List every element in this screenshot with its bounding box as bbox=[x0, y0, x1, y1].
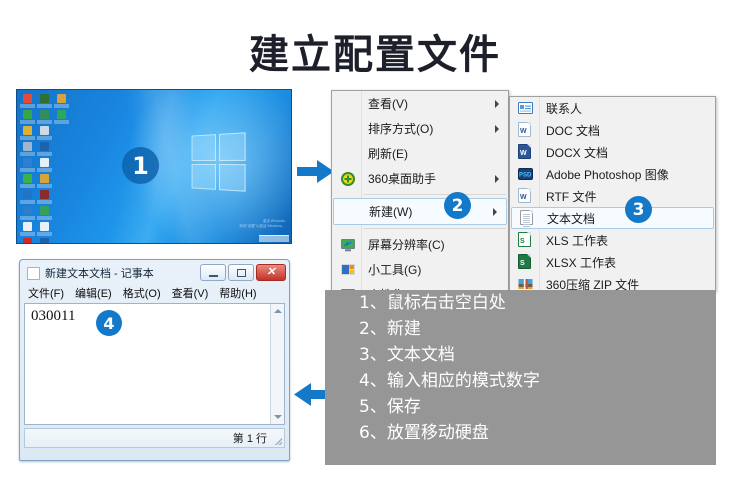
submenu-item-label: DOC 文档 bbox=[546, 122, 600, 139]
minimize-button[interactable] bbox=[200, 264, 226, 281]
word-docx-icon: W bbox=[518, 144, 533, 160]
menu-help[interactable]: 帮助(H) bbox=[219, 285, 256, 301]
desktop-icon bbox=[20, 221, 35, 236]
submenu-item-label: 联系人 bbox=[546, 100, 582, 117]
psd-icon: PSD bbox=[518, 166, 533, 182]
context-menu-item-view[interactable]: 查看(V) bbox=[332, 91, 508, 116]
context-menu-item-label: 小工具(G) bbox=[368, 261, 421, 278]
notepad-title-bar[interactable]: 新建文本文档 - 记事本 ✕ bbox=[23, 263, 286, 283]
resize-grip-icon[interactable] bbox=[273, 436, 282, 445]
desktop-icon bbox=[20, 141, 35, 156]
desktop-taskbar bbox=[259, 235, 289, 242]
notepad-app-icon bbox=[27, 267, 40, 280]
desktop-watermark: 激活 Windows 转到"设置"以激活 Windows。 bbox=[239, 219, 285, 229]
scroll-down-icon[interactable] bbox=[271, 410, 284, 424]
chevron-right-icon bbox=[493, 208, 497, 216]
context-menu-item-360-desktop-assistant[interactable]: 360桌面助手 bbox=[332, 166, 508, 191]
menu-view[interactable]: 查看(V) bbox=[172, 285, 209, 301]
desktop-icon bbox=[20, 173, 35, 188]
maximize-button[interactable] bbox=[228, 264, 254, 281]
menu-edit[interactable]: 编辑(E) bbox=[75, 285, 112, 301]
desktop-icon bbox=[37, 237, 52, 244]
context-menu-item-label: 刷新(E) bbox=[368, 145, 408, 162]
notepad-menu-bar[interactable]: 文件(F) 编辑(E) 格式(O) 查看(V) 帮助(H) bbox=[23, 283, 286, 302]
submenu-item-label: DOCX 文档 bbox=[546, 144, 608, 161]
instruction-step: 2、新建 bbox=[325, 316, 716, 342]
context-menu-item-screen-resolution[interactable]: 屏幕分辨率(C) bbox=[332, 232, 508, 257]
submenu-item-label: XLSX 工作表 bbox=[546, 254, 616, 271]
new-item-submenu[interactable]: 联系人 W DOC 文档 W DOCX 文档 PSD Adobe bbox=[509, 96, 716, 292]
desktop-icon bbox=[37, 125, 52, 140]
desktop-icon bbox=[20, 189, 35, 204]
context-menu-item-new[interactable]: 新建(W) bbox=[333, 198, 507, 225]
desktop-icon bbox=[54, 109, 69, 124]
submenu-item-label: XLS 工作表 bbox=[546, 232, 608, 249]
notepad-title-text: 新建文本文档 - 记事本 bbox=[45, 265, 154, 281]
desktop-icon bbox=[37, 157, 52, 172]
instruction-steps-panel: 1、鼠标右击空白处 2、新建 3、文本文档 4、输入相应的模式数字 5、保存 6… bbox=[325, 290, 716, 465]
context-menu-separator bbox=[364, 194, 506, 195]
instruction-step: 6、放置移动硬盘 bbox=[325, 420, 716, 446]
submenu-item-label: Adobe Photoshop 图像 bbox=[546, 166, 669, 183]
chevron-right-icon bbox=[495, 100, 499, 108]
desktop-icon bbox=[54, 157, 69, 172]
notepad-window[interactable]: 新建文本文档 - 记事本 ✕ 文件(F) 编辑(E) 格式(O) 查看(V) 帮… bbox=[19, 259, 290, 461]
chevron-right-icon bbox=[495, 175, 499, 183]
window-controls: ✕ bbox=[200, 264, 286, 281]
desktop-context-menu[interactable]: 查看(V) 排序方式(O) 刷新(E) 360桌面助手 新建(W) bbox=[331, 90, 509, 292]
step-badge-4: 4 bbox=[96, 310, 122, 336]
desktop-icon bbox=[20, 125, 35, 140]
gadgets-icon bbox=[340, 262, 356, 278]
desktop-icon bbox=[54, 173, 69, 188]
desktop-icon bbox=[54, 141, 69, 156]
desktop-icon bbox=[54, 125, 69, 140]
step-badge-1: 1 bbox=[122, 147, 159, 184]
submenu-item-xls[interactable]: S XLS 工作表 bbox=[510, 229, 715, 251]
instruction-step: 5、保存 bbox=[325, 394, 716, 420]
context-menu-separator bbox=[364, 228, 506, 229]
desktop-icon bbox=[54, 205, 69, 220]
notepad-text-area[interactable]: 030011 bbox=[24, 303, 285, 425]
desktop-icon bbox=[20, 205, 35, 220]
word-rtf-icon: W bbox=[518, 188, 533, 204]
windows-logo-icon bbox=[192, 132, 246, 192]
context-menu-item-label: 查看(V) bbox=[368, 95, 408, 112]
instruction-step: 1、鼠标右击空白处 bbox=[325, 290, 716, 316]
desktop-icon bbox=[54, 221, 69, 236]
close-button[interactable]: ✕ bbox=[256, 264, 286, 281]
arrow-right-icon bbox=[297, 159, 335, 184]
page-title: 建立配置文件 bbox=[0, 22, 750, 80]
context-menu-item-gadgets[interactable]: 小工具(G) bbox=[332, 257, 508, 282]
svg-text:PSD: PSD bbox=[519, 173, 532, 179]
excel-xls-icon: S bbox=[518, 232, 533, 248]
desktop-icon bbox=[54, 93, 69, 108]
context-menu-item-refresh[interactable]: 刷新(E) bbox=[332, 141, 508, 166]
monitor-icon bbox=[340, 237, 356, 253]
desktop-icon bbox=[54, 189, 69, 204]
step-badge-2: 2 bbox=[444, 192, 471, 219]
notepad-scrollbar[interactable] bbox=[270, 304, 284, 424]
contact-card-icon bbox=[518, 100, 533, 116]
desktop-icon bbox=[37, 141, 52, 156]
close-icon: ✕ bbox=[266, 267, 275, 278]
submenu-item-label: 文本文档 bbox=[547, 210, 595, 227]
submenu-item-text-document[interactable]: 文本文档 bbox=[511, 207, 714, 229]
menu-file[interactable]: 文件(F) bbox=[28, 285, 64, 301]
desktop-icon bbox=[54, 237, 69, 244]
instruction-step: 3、文本文档 bbox=[325, 342, 716, 368]
desktop-icon bbox=[20, 93, 35, 108]
submenu-item-label: RTF 文件 bbox=[546, 188, 596, 205]
shield-360-icon bbox=[340, 171, 356, 187]
desktop-icon bbox=[20, 237, 35, 244]
submenu-item-contact[interactable]: 联系人 bbox=[510, 97, 715, 119]
context-menu-item-sort-by[interactable]: 排序方式(O) bbox=[332, 116, 508, 141]
context-menu-item-label: 排序方式(O) bbox=[368, 120, 433, 137]
desktop-icon bbox=[37, 189, 52, 204]
step-badge-3: 3 bbox=[625, 196, 652, 223]
desktop-icon bbox=[37, 221, 52, 236]
chevron-right-icon bbox=[495, 125, 499, 133]
desktop-icon bbox=[20, 157, 35, 172]
submenu-item-docx[interactable]: W DOCX 文档 bbox=[510, 141, 715, 163]
desktop-icon bbox=[37, 109, 52, 124]
submenu-item-xlsx[interactable]: S XLSX 工作表 bbox=[510, 251, 715, 273]
desktop-icon bbox=[37, 173, 52, 188]
menu-format[interactable]: 格式(O) bbox=[123, 285, 161, 301]
excel-xlsx-icon: S bbox=[518, 254, 533, 270]
page-root: 建立配置文件 bbox=[0, 0, 750, 490]
desktop-icon bbox=[37, 205, 52, 220]
context-menu-item-label: 360桌面助手 bbox=[368, 170, 436, 187]
desktop-icon bbox=[37, 93, 52, 108]
text-file-icon bbox=[520, 210, 535, 226]
context-menu-item-label: 屏幕分辨率(C) bbox=[368, 236, 445, 253]
desktop-icon-grid bbox=[20, 93, 70, 244]
context-menu-item-label: 新建(W) bbox=[369, 203, 412, 220]
submenu-item-photoshop[interactable]: PSD Adobe Photoshop 图像 bbox=[510, 163, 715, 185]
notepad-content[interactable]: 030011 bbox=[25, 304, 284, 329]
submenu-item-doc[interactable]: W DOC 文档 bbox=[510, 119, 715, 141]
notepad-status-bar: 第 1 行 bbox=[24, 428, 285, 448]
desktop-icon bbox=[20, 109, 35, 124]
submenu-item-rtf[interactable]: W RTF 文件 bbox=[510, 185, 715, 207]
instruction-step: 4、输入相应的模式数字 bbox=[325, 368, 716, 394]
word-doc-icon: W bbox=[518, 122, 533, 138]
notepad-line-indicator: 第 1 行 bbox=[233, 430, 267, 446]
scroll-up-icon[interactable] bbox=[271, 304, 284, 318]
